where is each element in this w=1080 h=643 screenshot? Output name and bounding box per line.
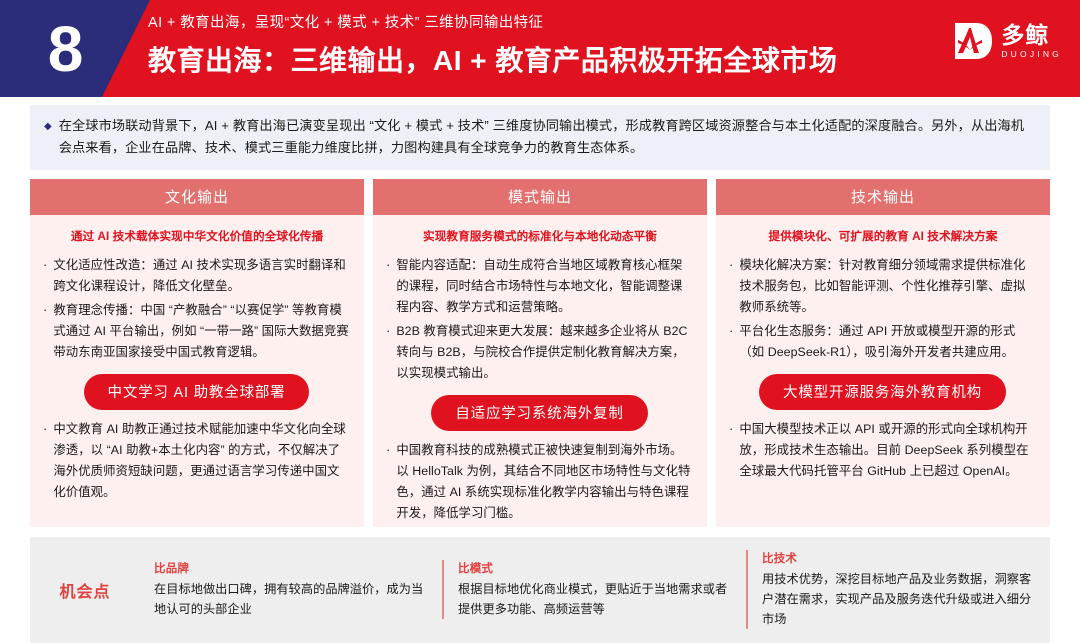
opportunity-bar: 机会点 比品牌 在目标地做出口碑，拥有较高的品牌溢价，成为当地认可的头部企业 比… bbox=[30, 537, 1050, 643]
list-item: · 模块化解决方案：针对教育细分领域需求提供标准化技术服务包，比如智能评测、个性… bbox=[729, 255, 1036, 318]
diamond-bullet-icon: ◆ bbox=[44, 116, 52, 138]
list-item-text: 中文教育 AI 助教正通过技术赋能加速中华文化向全球渗透，以 “AI 助教+本土… bbox=[53, 419, 350, 503]
list-item-text: B2B 教育模式迎来更大发展：越来越多企业将从 B2C 转向与 B2B，与院校合… bbox=[396, 321, 693, 384]
column-body: · 模块化解决方案：针对教育细分领域需求提供标准化技术服务包，比如智能评测、个性… bbox=[716, 255, 1050, 485]
bullet-dot-icon: · bbox=[386, 320, 390, 383]
column-header: 文化输出 bbox=[30, 179, 364, 215]
pill-container: 中文学习 AI 助教全球部署 bbox=[43, 374, 350, 410]
list-item-text: 中国大模型技术正以 API 或开源的形式向全球机构开放，形成技术生态输出。目前 … bbox=[739, 419, 1036, 482]
column-subtitle: 通过 AI 技术载体实现中华文化价值的全球化传播 bbox=[30, 215, 364, 255]
bullet-dot-icon: · bbox=[386, 439, 390, 523]
list-item-text: 智能内容适配：自动生成符合当地区域教育核心框架的课程，同时结合市场特性与本地文化… bbox=[396, 255, 693, 318]
opportunity-item-title: 比技术 bbox=[762, 550, 1036, 566]
list-item-text: 模块化解决方案：针对教育细分领域需求提供标准化技术服务包，比如智能评测、个性化推… bbox=[739, 255, 1036, 318]
column-subtitle: 提供模块化、可扩展的教育 AI 技术解决方案 bbox=[716, 215, 1050, 255]
page-title: 教育出海：三维输出，AI + 教育产品积极开拓全球市场 bbox=[148, 40, 837, 82]
list-item: · B2B 教育模式迎来更大发展：越来越多企业将从 B2C 转向与 B2B，与院… bbox=[386, 321, 693, 384]
page-number: 8 bbox=[30, 3, 100, 95]
bullet-dot-icon: · bbox=[729, 320, 733, 362]
column-culture-output: 文化输出 通过 AI 技术载体实现中华文化价值的全球化传播 · 文化适应性改造：… bbox=[30, 179, 364, 527]
bullet-dot-icon: · bbox=[43, 254, 47, 296]
column-header: 模式输出 bbox=[373, 179, 707, 215]
logo-name-en: DUOJING bbox=[1001, 48, 1062, 60]
logo-name-cn: 多鲸 bbox=[1001, 23, 1062, 48]
list-item-text: 文化适应性改造：通过 AI 技术实现多语言实时翻译和跨文化课程设计，降低文化壁垒… bbox=[53, 255, 350, 297]
list-item-text: 中国教育科技的成熟模式正被快速复制到海外市场。以 HelloTalk 为例，其结… bbox=[396, 440, 693, 524]
column-body: · 智能内容适配：自动生成符合当地区域教育核心框架的课程，同时结合市场特性与本地… bbox=[373, 255, 707, 527]
opportunity-item-title: 比模式 bbox=[458, 560, 732, 576]
list-item: · 中国大模型技术正以 API 或开源的形式向全球机构开放，形成技术生态输出。目… bbox=[729, 419, 1036, 482]
column-model-output: 模式输出 实现教育服务模式的标准化与本地化动态平衡 · 智能内容适配：自动生成符… bbox=[373, 179, 707, 527]
page-header: 8 AI + 教育出海，呈现“文化 + 模式 + 技术” 三维协同输出特征 教育… bbox=[0, 0, 1080, 97]
list-item: · 文化适应性改造：通过 AI 技术实现多语言实时翻译和跨文化课程设计，降低文化… bbox=[43, 255, 350, 297]
pill-container: 大模型开源服务海外教育机构 bbox=[729, 374, 1036, 410]
highlight-pill[interactable]: 中文学习 AI 助教全球部署 bbox=[84, 374, 310, 410]
bullet-dot-icon: · bbox=[43, 299, 47, 362]
opportunity-item-model: 比模式 根据目标地优化商业模式，更贴近于当地需求或者提供更多功能、高频运营等 bbox=[442, 560, 746, 619]
brand-logo: 多鲸 DUOJING bbox=[952, 20, 1062, 62]
logo-mark-icon bbox=[952, 20, 994, 62]
opportunity-item-text: 根据目标地优化商业模式，更贴近于当地需求或者提供更多功能、高频运营等 bbox=[458, 579, 732, 619]
header-subtitle: AI + 教育出海，呈现“文化 + 模式 + 技术” 三维协同输出特征 bbox=[148, 12, 837, 34]
list-item: · 教育理念传播：中国 “产教融合” “以赛促学” 等教育模式通过 AI 平台输… bbox=[43, 300, 350, 363]
bullet-dot-icon: · bbox=[386, 254, 390, 317]
opportunity-item-technology: 比技术 用技术优势，深挖目标地产品及业务数据，洞察客户潜在需求，实现产品及服务迭… bbox=[746, 550, 1050, 629]
column-header: 技术输出 bbox=[716, 179, 1050, 215]
pill-container: 自适应学习系统海外复制 bbox=[386, 395, 693, 431]
columns-container: 文化输出 通过 AI 技术载体实现中华文化价值的全球化传播 · 文化适应性改造：… bbox=[30, 179, 1050, 527]
list-item: · 平台化生态服务：通过 API 开放或模型开源的形式（如 DeepSeek-R… bbox=[729, 321, 1036, 363]
list-item: · 中文教育 AI 助教正通过技术赋能加速中华文化向全球渗透，以 “AI 助教+… bbox=[43, 419, 350, 503]
header-text-group: AI + 教育出海，呈现“文化 + 模式 + 技术” 三维协同输出特征 教育出海… bbox=[148, 12, 837, 82]
column-body: · 文化适应性改造：通过 AI 技术实现多语言实时翻译和跨文化课程设计，降低文化… bbox=[30, 255, 364, 506]
opportunity-item-title: 比品牌 bbox=[154, 560, 428, 576]
list-item: · 中国教育科技的成熟模式正被快速复制到海外市场。以 HelloTalk 为例，… bbox=[386, 440, 693, 524]
highlight-pill[interactable]: 自适应学习系统海外复制 bbox=[431, 395, 647, 431]
highlight-pill[interactable]: 大模型开源服务海外教育机构 bbox=[759, 374, 1006, 410]
opportunity-item-text: 在目标地做出口碑，拥有较高的品牌溢价，成为当地认可的头部企业 bbox=[154, 579, 428, 619]
bullet-dot-icon: · bbox=[729, 254, 733, 317]
list-item-text: 平台化生态服务：通过 API 开放或模型开源的形式（如 DeepSeek-R1）… bbox=[739, 321, 1036, 363]
intro-text: 在全球市场联动背景下，AI + 教育出海已演变呈现出 “文化 + 模式 + 技术… bbox=[59, 115, 1036, 159]
intro-panel: ◆ 在全球市场联动背景下，AI + 教育出海已演变呈现出 “文化 + 模式 + … bbox=[30, 105, 1050, 170]
logo-text-group: 多鲸 DUOJING bbox=[1001, 23, 1062, 60]
column-technology-output: 技术输出 提供模块化、可扩展的教育 AI 技术解决方案 · 模块化解决方案：针对… bbox=[716, 179, 1050, 527]
bullet-dot-icon: · bbox=[729, 418, 733, 481]
opportunity-item-brand: 比品牌 在目标地做出口碑，拥有较高的品牌溢价，成为当地认可的头部企业 bbox=[140, 560, 442, 619]
list-item-text: 教育理念传播：中国 “产教融合” “以赛促学” 等教育模式通过 AI 平台输出，… bbox=[53, 300, 350, 363]
column-subtitle: 实现教育服务模式的标准化与本地化动态平衡 bbox=[373, 215, 707, 255]
bullet-dot-icon: · bbox=[43, 418, 47, 502]
opportunity-item-text: 用技术优势，深挖目标地产品及业务数据，洞察客户潜在需求，实现产品及服务迭代升级或… bbox=[762, 569, 1036, 629]
list-item: · 智能内容适配：自动生成符合当地区域教育核心框架的课程，同时结合市场特性与本地… bbox=[386, 255, 693, 318]
opportunity-label: 机会点 bbox=[30, 578, 140, 602]
